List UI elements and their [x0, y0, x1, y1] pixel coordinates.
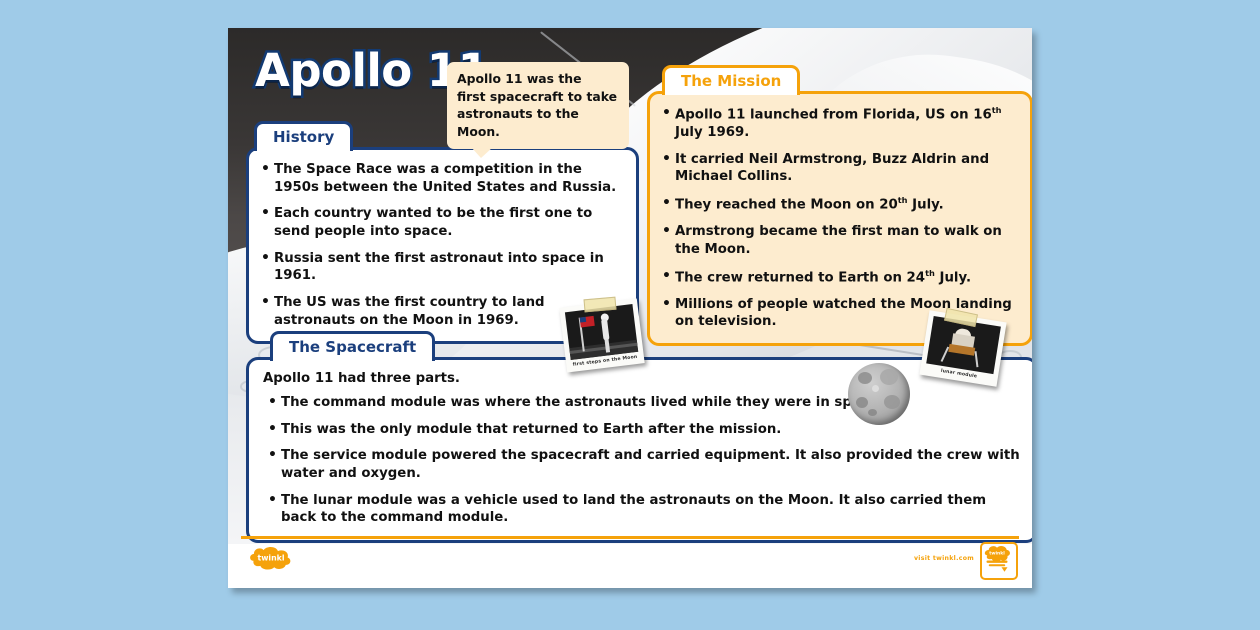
moon-crater	[858, 372, 872, 384]
astronaut-body	[601, 318, 610, 341]
history-bullet-list: The Space Race was a competition in the …	[259, 161, 623, 329]
list-item: It carried Neil Armstrong, Buzz Aldrin a…	[660, 151, 1018, 186]
lander-leg	[974, 351, 978, 367]
astronaut-legs	[605, 339, 611, 352]
list-item: The service module powered the spacecraf…	[261, 447, 1021, 482]
footer-url-text[interactable]: visit twinkl.com	[914, 555, 974, 562]
apollo-11-poster-page: Apollo 11 Apollo 11 was the first spacec…	[228, 28, 1032, 588]
list-item: Apollo 11 launched from Florida, US on 1…	[660, 105, 1018, 142]
photo-image-astronaut-flag	[565, 304, 638, 360]
intro-speech-bubble: Apollo 11 was the first spacecraft to ta…	[447, 62, 629, 149]
list-item: The crew returned to Earth on 24th July.	[660, 268, 1018, 287]
section-tab-history: History	[254, 121, 353, 151]
list-item: Each country wanted to be the first one …	[259, 205, 623, 240]
footer-divider	[241, 536, 1019, 539]
spacecraft-card: Apollo 11 had three parts. The command m…	[246, 357, 1032, 543]
twinkl-logo[interactable]: twinkl	[248, 545, 294, 571]
twinkl-logo-text: twinkl	[257, 553, 284, 562]
list-item: Russia sent the first astronaut into spa…	[259, 250, 623, 285]
usa-flag-icon	[580, 316, 595, 328]
moon-crater	[856, 397, 868, 408]
section-tab-spacecraft: The Spacecraft	[270, 331, 435, 361]
mission-card: Apollo 11 launched from Florida, US on 1…	[647, 91, 1032, 346]
moon-crater	[884, 395, 900, 409]
list-item: The Space Race was a competition in the …	[259, 161, 623, 196]
mission-bullet-list: Apollo 11 launched from Florida, US on 1…	[660, 105, 1018, 331]
moon-crater	[868, 409, 877, 416]
twinkl-badge-text: twinkl	[989, 551, 1005, 557]
list-item: They reached the Moon on 20th July.	[660, 195, 1018, 214]
moon-crater	[880, 369, 898, 385]
moon-illustration	[848, 363, 910, 425]
list-item: The lunar module was a vehicle used to l…	[261, 492, 1021, 527]
tape-strip	[583, 297, 616, 313]
section-tab-mission: The Mission	[662, 65, 800, 95]
intro-line: first spacecraft to take	[457, 88, 619, 106]
list-item: Armstrong became the first man to walk o…	[660, 223, 1018, 258]
screenshot-stage: Apollo 11 Apollo 11 was the first spacec…	[0, 0, 1260, 630]
intro-line: Apollo 11 was the	[457, 70, 619, 88]
list-item: This was the only module that returned t…	[261, 421, 1021, 439]
moon-crater	[872, 385, 879, 392]
lander-leg	[941, 346, 950, 361]
spacecraft-bullet-list: The command module was where the astrona…	[261, 394, 1021, 527]
intro-line: astronauts to the Moon.	[457, 105, 619, 140]
twinkl-badge: twinkl	[980, 542, 1018, 580]
